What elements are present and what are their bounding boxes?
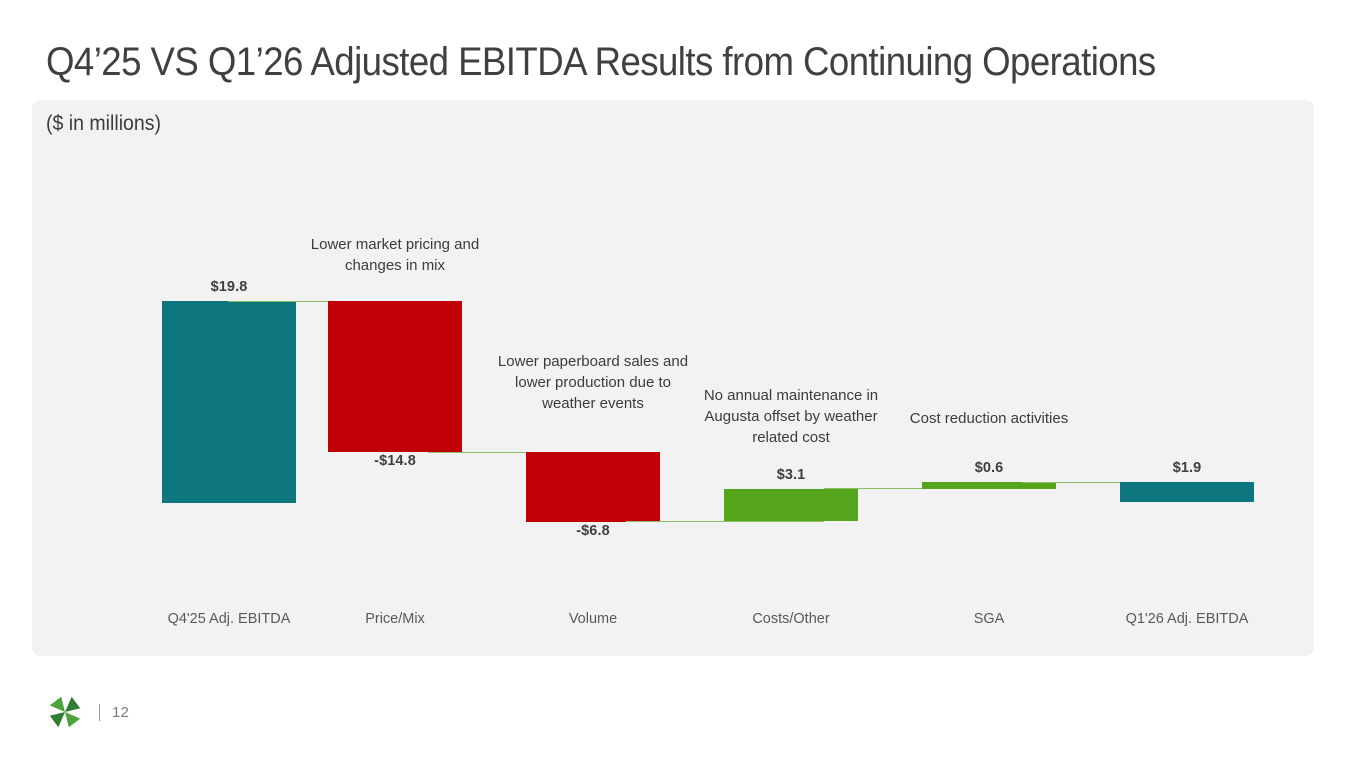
bar-value-label: $0.6 — [975, 460, 1004, 476]
waterfall-bar[interactable] — [922, 482, 1056, 489]
waterfall-column: No annual maintenance in Augusta offset … — [692, 100, 890, 656]
waterfall-bar[interactable] — [162, 301, 296, 503]
bar-value-label: -$6.8 — [576, 523, 610, 539]
slide-footer: 12 — [46, 692, 129, 732]
bar-value-label: $1.9 — [1173, 460, 1202, 476]
bar-annotation: No annual maintenance in Augusta offset … — [686, 385, 896, 448]
waterfall-column: $1.9Q1'26 Adj. EBITDA — [1088, 100, 1286, 656]
waterfall-bar[interactable] — [526, 452, 660, 522]
page-title: Q4’25 VS Q1’26 Adjusted EBITDA Results f… — [46, 33, 1226, 91]
footer-divider — [99, 704, 100, 721]
x-axis-category-label: Costs/Other — [676, 611, 906, 627]
bar-value-label: $19.8 — [211, 279, 248, 295]
waterfall-chart-plot-area: $19.8Q4'25 Adj. EBITDALower market prici… — [32, 100, 1314, 656]
waterfall-bar[interactable] — [328, 301, 462, 452]
bar-annotation: Cost reduction activities — [884, 408, 1094, 429]
bar-annotation: Lower paperboard sales and lower product… — [488, 351, 698, 414]
waterfall-column: Cost reduction activities$0.6SGA — [890, 100, 1088, 656]
waterfall-bar[interactable] — [724, 489, 858, 521]
waterfall-bar[interactable] — [1120, 482, 1254, 502]
bar-value-label: $3.1 — [777, 467, 806, 483]
waterfall-column: Lower market pricing and changes in mix-… — [296, 100, 494, 656]
pinwheel-logo-icon — [46, 693, 84, 731]
bar-value-label: -$14.8 — [374, 453, 416, 469]
x-axis-category-label: Volume — [478, 611, 708, 627]
x-axis-category-label: SGA — [874, 611, 1104, 627]
page-number: 12 — [112, 704, 129, 721]
waterfall-column: Lower paperboard sales and lower product… — [494, 100, 692, 656]
bar-annotation: Lower market pricing and changes in mix — [290, 234, 500, 276]
chart-panel: ($ in millions) $19.8Q4'25 Adj. EBITDALo… — [32, 100, 1314, 656]
x-axis-category-label: Price/Mix — [280, 611, 510, 627]
x-axis-category-label: Q1'26 Adj. EBITDA — [1072, 611, 1302, 627]
